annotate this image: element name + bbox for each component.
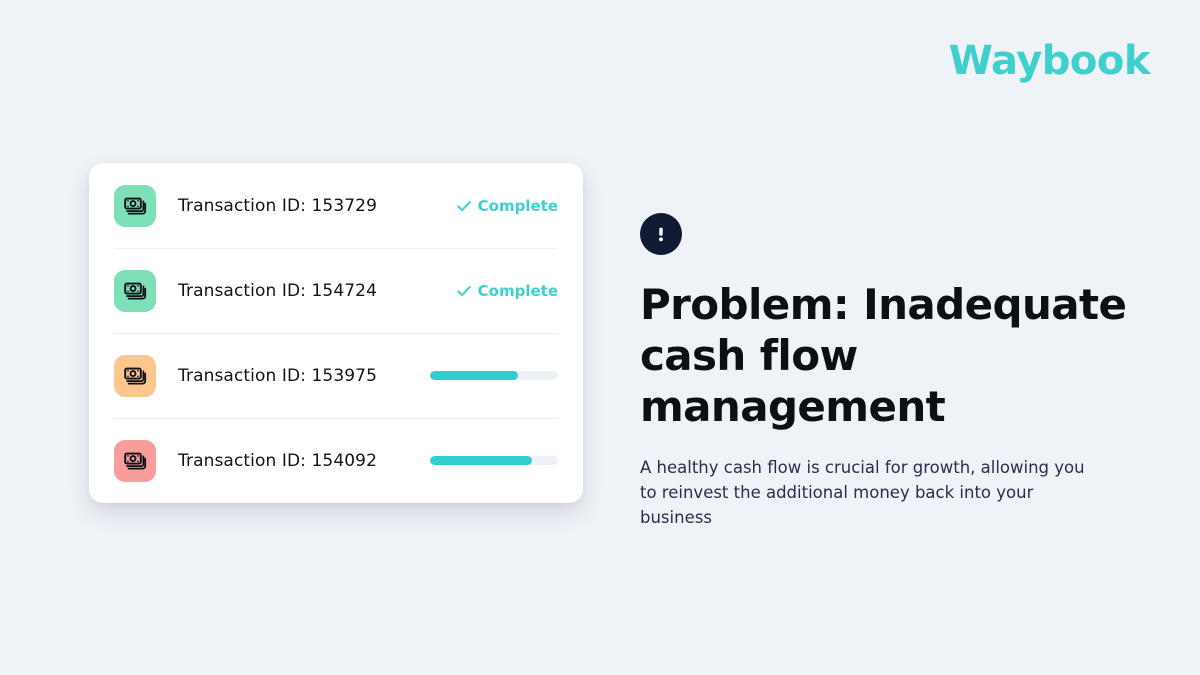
transaction-status: [426, 456, 558, 465]
page-title: Problem: Inadequate cash flow management: [640, 279, 1140, 433]
progress-fill: [430, 456, 532, 465]
check-icon: [456, 283, 472, 299]
status-label: Complete: [478, 197, 558, 215]
transactions-card: Transaction ID: 153729 Complete: [89, 163, 583, 503]
brand-logo: Waybook: [949, 41, 1150, 81]
content-panel: Problem: Inadequate cash flow management…: [640, 213, 1140, 530]
body-text: A healthy cash flow is crucial for growt…: [640, 455, 1090, 530]
transaction-row[interactable]: Transaction ID: 153975: [114, 333, 558, 418]
transaction-label: Transaction ID: 154092: [178, 451, 377, 471]
transaction-status: Complete: [426, 282, 558, 300]
progress-bar: [430, 456, 558, 465]
transaction-row[interactable]: Transaction ID: 153729 Complete: [114, 163, 558, 248]
transaction-status: [426, 371, 558, 380]
status-label: Complete: [478, 282, 558, 300]
progress-bar: [430, 371, 558, 380]
brand-wordmark: Waybook: [949, 41, 1150, 81]
transaction-label: Transaction ID: 153975: [178, 366, 377, 386]
status-badge: Complete: [456, 197, 558, 215]
banknote-icon: [114, 440, 156, 482]
banknote-icon: [114, 355, 156, 397]
transaction-row[interactable]: Transaction ID: 154092: [114, 418, 558, 503]
banknote-icon: [114, 270, 156, 312]
exclamation-icon: [640, 213, 682, 255]
transaction-row[interactable]: Transaction ID: 154724 Complete: [114, 248, 558, 333]
transaction-label: Transaction ID: 153729: [178, 196, 377, 216]
check-icon: [456, 198, 472, 214]
progress-fill: [430, 371, 518, 380]
status-badge: Complete: [456, 282, 558, 300]
transaction-status: Complete: [426, 197, 558, 215]
banknote-icon: [114, 185, 156, 227]
transaction-label: Transaction ID: 154724: [178, 281, 377, 301]
